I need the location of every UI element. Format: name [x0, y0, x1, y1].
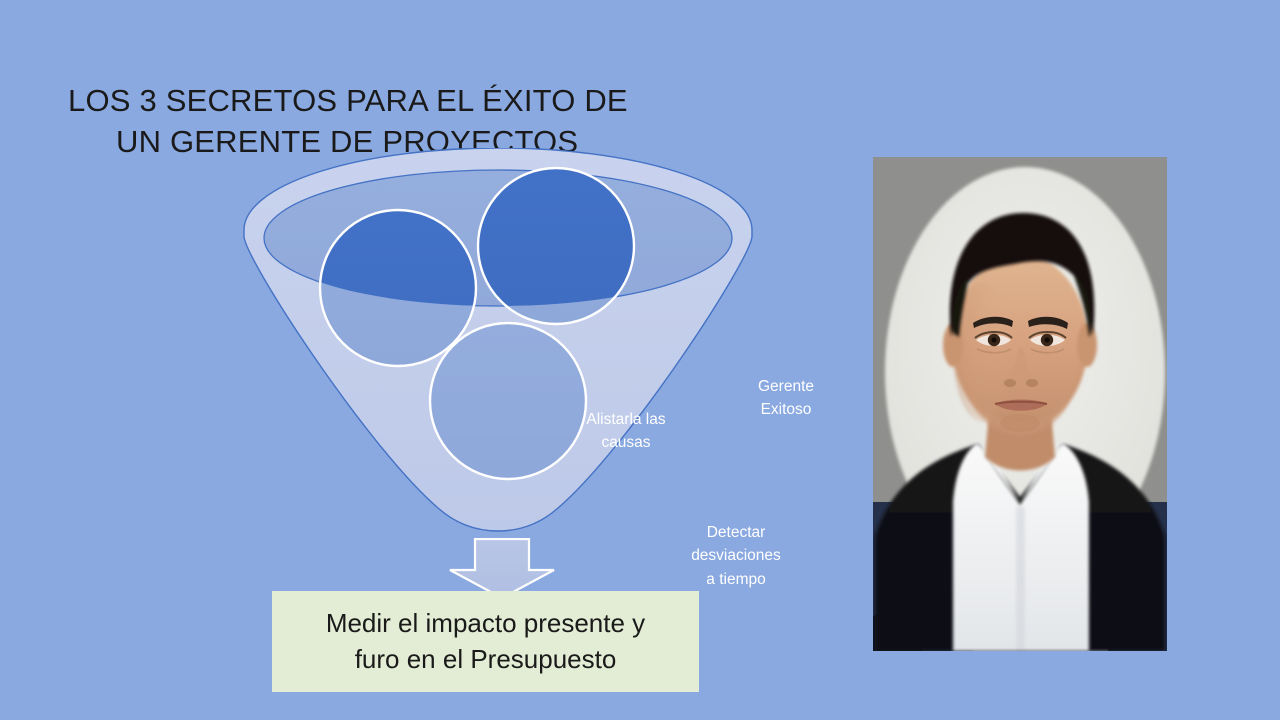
portrait-photo-image — [873, 157, 1167, 651]
page-title-line1: LOS 3 SECRETOS PARA EL ÉXITO DE — [68, 83, 628, 118]
circle-causas — [320, 210, 476, 366]
circle-detectar — [430, 323, 586, 479]
result-callout: Medir el impacto presente y furo en el P… — [272, 591, 699, 692]
portrait-photo — [873, 157, 1167, 651]
funnel-diagram: Alistarla las causas Gerente Exitoso Det… — [228, 148, 768, 548]
result-callout-text: Medir el impacto presente y furo en el P… — [326, 606, 645, 678]
circle-gerente — [478, 168, 634, 324]
slide-canvas: LOS 3 SECRETOS PARA EL ÉXITO DE UN GEREN… — [0, 0, 1280, 720]
down-arrow-icon — [450, 539, 554, 598]
